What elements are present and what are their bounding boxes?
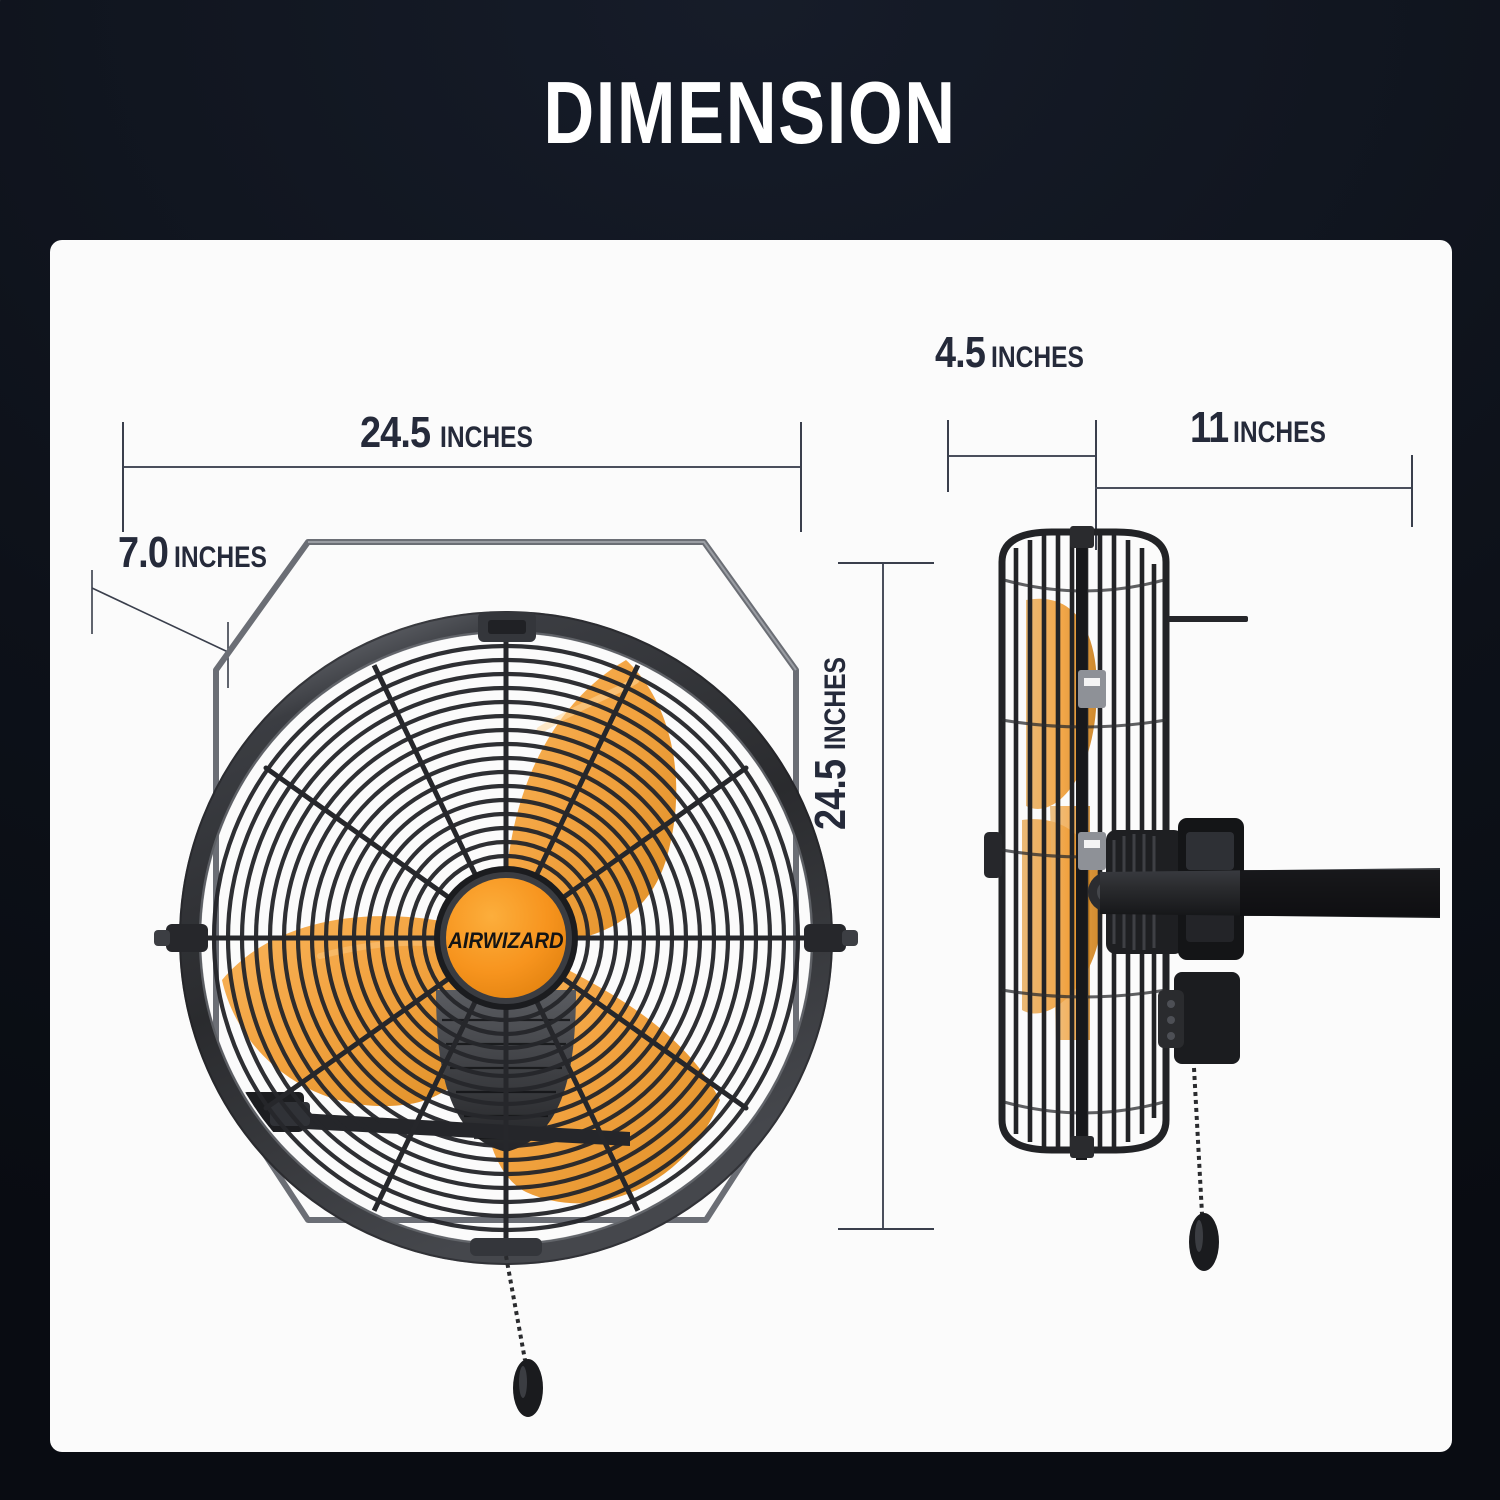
cage-latch-top (1078, 670, 1106, 708)
side-blades (1022, 599, 1103, 1040)
pull-chain-knob (1189, 1213, 1219, 1271)
dim-label-width-front: 24.5INCHES (360, 408, 553, 458)
side-view (930, 520, 1450, 1350)
side-pivot-knob (984, 832, 1002, 878)
dim-label-cage-depth: 4.5INCHES (935, 328, 1105, 378)
page-title: DIMENSION (150, 62, 1350, 164)
dim-line-height-side (882, 562, 884, 1230)
pull-chain[interactable] (506, 1256, 543, 1417)
dim-tick-height-top (838, 562, 934, 564)
pivot-knob-left (154, 924, 208, 952)
dim-tick-height-bottom (838, 1228, 934, 1230)
dim-unit: INCHES (991, 341, 1084, 375)
dim-tick-width-left (122, 422, 124, 532)
pull-chain-knob (513, 1359, 543, 1417)
control-box (1158, 972, 1240, 1064)
hub-logo-text: AIRWIZARD (447, 929, 563, 953)
dim-label-arm: 11INCHES (1190, 403, 1346, 453)
dim-tick-width-right (800, 422, 802, 532)
top-fin (1168, 616, 1248, 622)
dim-value: 24.5 (360, 408, 430, 458)
dim-line-arm (1095, 487, 1413, 489)
dim-value: 4.5 (935, 328, 985, 378)
dim-value: 11 (1190, 403, 1228, 453)
rim-tab-bottom (470, 1238, 542, 1256)
front-view: AIRWIZARD (70, 520, 830, 1350)
dim-tick-arm-right (1411, 455, 1413, 527)
cage-latch-mid (1078, 832, 1106, 870)
pivot-knob-right (804, 924, 858, 952)
dim-unit: INCHES (440, 421, 533, 455)
diagram-panel: 24.5INCHES 7.0INCHES 4.5INCHES 11INCHES … (50, 240, 1452, 1452)
dim-tick-cage-left (947, 420, 949, 492)
dim-unit: INCHES (1233, 416, 1326, 450)
dim-line-width-front (122, 466, 800, 468)
side-pull-chain[interactable] (1189, 1068, 1219, 1271)
rim-clip (478, 612, 536, 642)
dim-line-cage-depth (947, 455, 1095, 457)
